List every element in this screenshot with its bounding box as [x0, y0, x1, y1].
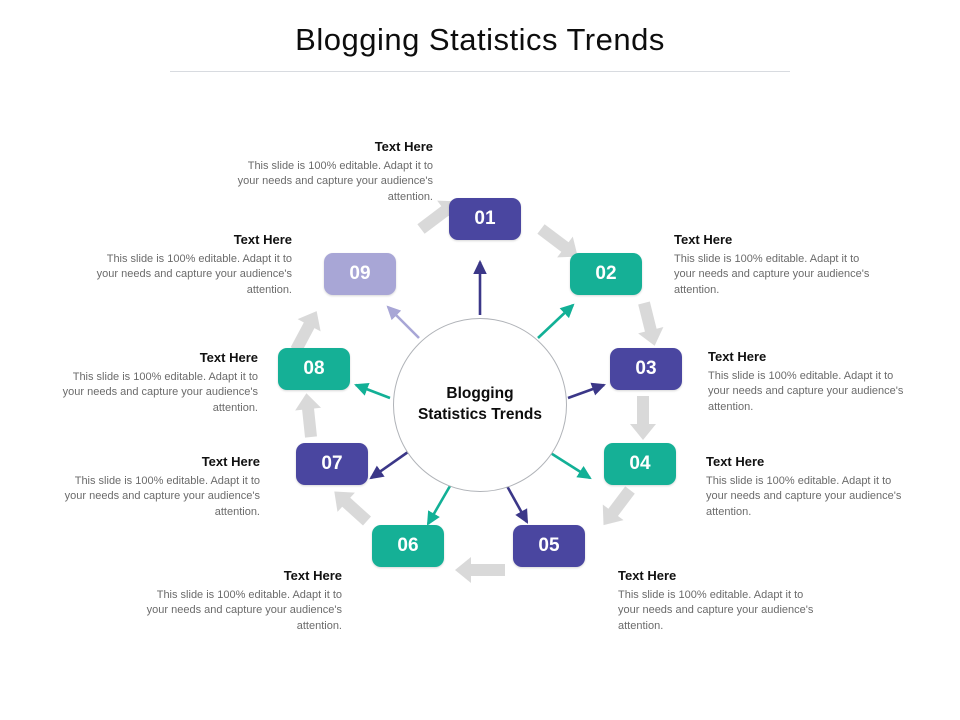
callout-05-body: This slide is 100% editable. Adapt it to… [618, 588, 818, 635]
node-03[interactable]: 03 [610, 348, 682, 390]
callout-04-body: This slide is 100% editable. Adapt it to… [706, 474, 906, 521]
node-03-number: 03 [635, 358, 656, 380]
node-07-number: 07 [321, 453, 342, 475]
callout-09: Text Here This slide is 100% editable. A… [92, 232, 292, 298]
sequence-arrow-05-to-06 [455, 557, 505, 583]
spoke-to-node-06 [428, 486, 450, 524]
callout-05: Text Here This slide is 100% editable. A… [618, 568, 818, 634]
callout-09-body: This slide is 100% editable. Adapt it to… [92, 252, 292, 299]
spoke-to-node-04 [549, 452, 590, 478]
node-01-number: 01 [474, 208, 495, 230]
node-08[interactable]: 08 [278, 348, 350, 390]
sequence-arrow-02-to-03 [631, 300, 667, 349]
spoke-to-node-08 [356, 385, 390, 398]
callout-06: Text Here This slide is 100% editable. A… [142, 568, 342, 634]
center-hub-label: Blogging Statistics Trends [418, 384, 542, 426]
callout-03: Text Here This slide is 100% editable. A… [708, 349, 908, 415]
node-08-number: 08 [303, 358, 324, 380]
callout-04: Text Here This slide is 100% editable. A… [706, 454, 906, 520]
spoke-to-node-07 [371, 452, 408, 478]
callout-08-title: Text Here [58, 350, 258, 366]
spoke-to-node-02 [538, 305, 573, 338]
callout-06-title: Text Here [142, 568, 342, 584]
node-09[interactable]: 09 [324, 253, 396, 295]
node-05-number: 05 [538, 535, 559, 557]
sequence-arrow-03-to-04 [630, 396, 656, 440]
sequence-arrow-04-to-05 [593, 482, 640, 533]
center-hub[interactable]: Blogging Statistics Trends [393, 318, 567, 492]
sequence-arrow-06-to-07 [326, 482, 376, 531]
node-05[interactable]: 05 [513, 525, 585, 567]
callout-01: Text Here This slide is 100% editable. A… [233, 139, 433, 205]
callout-02-title: Text Here [674, 232, 874, 248]
callout-04-title: Text Here [706, 454, 906, 470]
sequence-arrow-07-to-08 [293, 392, 323, 438]
node-01[interactable]: 01 [449, 198, 521, 240]
callout-01-title: Text Here [233, 139, 433, 155]
spoke-to-node-05 [507, 486, 527, 522]
spoke-to-node-03 [568, 385, 604, 398]
node-02-number: 02 [595, 263, 616, 285]
node-04[interactable]: 04 [604, 443, 676, 485]
node-06-number: 06 [397, 535, 418, 557]
node-07[interactable]: 07 [296, 443, 368, 485]
cycle-diagram: Blogging Statistics Trends 01 02 03 04 0… [0, 0, 960, 720]
node-02[interactable]: 02 [570, 253, 642, 295]
callout-07-body: This slide is 100% editable. Adapt it to… [60, 474, 260, 521]
spoke-to-node-09 [388, 307, 419, 338]
callout-06-body: This slide is 100% editable. Adapt it to… [142, 588, 342, 635]
node-06[interactable]: 06 [372, 525, 444, 567]
callout-08: Text Here This slide is 100% editable. A… [58, 350, 258, 416]
callout-03-title: Text Here [708, 349, 908, 365]
callout-03-body: This slide is 100% editable. Adapt it to… [708, 369, 908, 416]
callout-07: Text Here This slide is 100% editable. A… [60, 454, 260, 520]
callout-01-body: This slide is 100% editable. Adapt it to… [233, 159, 433, 206]
callout-08-body: This slide is 100% editable. Adapt it to… [58, 370, 258, 417]
callout-05-title: Text Here [618, 568, 818, 584]
node-04-number: 04 [629, 453, 650, 475]
callout-02-body: This slide is 100% editable. Adapt it to… [674, 252, 874, 299]
callout-07-title: Text Here [60, 454, 260, 470]
node-09-number: 09 [349, 263, 370, 285]
callout-09-title: Text Here [92, 232, 292, 248]
callout-02: Text Here This slide is 100% editable. A… [674, 232, 874, 298]
